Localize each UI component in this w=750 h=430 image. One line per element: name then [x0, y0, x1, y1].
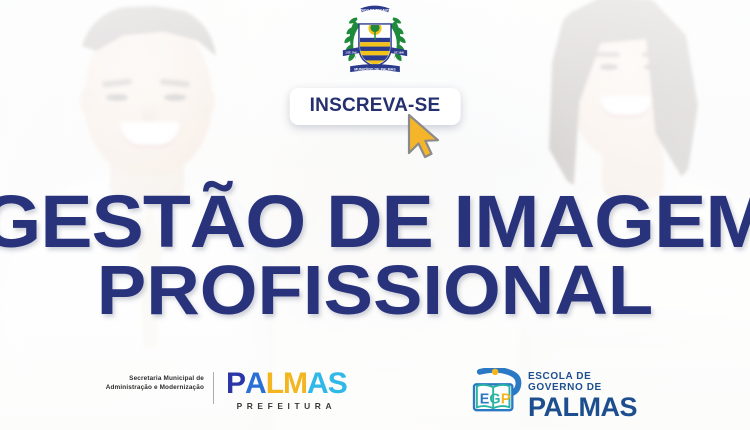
- escola-de-governo-logo: E G P ESCOLA DE GOVERNO DE PALMAS: [470, 368, 650, 418]
- palmas-letter: M: [283, 369, 307, 399]
- palmas-wordmark: PALMAS: [226, 369, 347, 399]
- svg-text:E: E: [480, 391, 490, 407]
- escola-line-2: PALMAS: [528, 394, 650, 421]
- promo-banner: ESTADO DO TOCANTINS: [0, 0, 750, 430]
- svg-text:MUNICÍPIO DE PALMAS: MUNICÍPIO DE PALMAS: [354, 67, 396, 72]
- palmas-prefeitura-logo: PALMAS PREFEITURA: [226, 369, 347, 411]
- escola-line-1: ESCOLA DE GOVERNO DE: [528, 371, 650, 393]
- secretariat-logo: Secretaria Municipal de Administração e …: [102, 374, 204, 393]
- secretariat-line-1: Secretaria Municipal de: [102, 374, 204, 383]
- mouse-cursor-icon: [405, 112, 447, 160]
- svg-text:G: G: [489, 391, 500, 407]
- palmas-subtitle: PREFEITURA: [226, 401, 347, 411]
- logo-divider: [213, 372, 214, 404]
- secretariat-line-2: Administração e Modernização: [102, 383, 204, 392]
- title-line-2: PROFISSIONAL: [0, 257, 750, 324]
- palmas-letter: A: [307, 369, 328, 399]
- page-title: GESTÃO DE IMAGEM PROFISSIONAL: [0, 186, 750, 324]
- palmas-letter: A: [245, 369, 266, 399]
- svg-text:1 DE JAN: 1 DE JAN: [345, 52, 356, 55]
- footer-logos: Secretaria Municipal de Administração e …: [0, 366, 750, 422]
- palmas-letter: P: [226, 369, 245, 399]
- palmas-letter: L: [266, 369, 283, 399]
- title-line-1: GESTÃO DE IMAGEM: [0, 186, 750, 257]
- egp-open-book-icon: E G P: [470, 368, 524, 414]
- svg-text:ESTADO DO TOCANTINS: ESTADO DO TOCANTINS: [356, 9, 395, 13]
- svg-text:DE 1990: DE 1990: [394, 52, 404, 55]
- palmas-coat-of-arms-icon: ESTADO DO TOCANTINS: [338, 2, 412, 78]
- palmas-letter: S: [328, 369, 347, 399]
- svg-text:P: P: [501, 391, 511, 407]
